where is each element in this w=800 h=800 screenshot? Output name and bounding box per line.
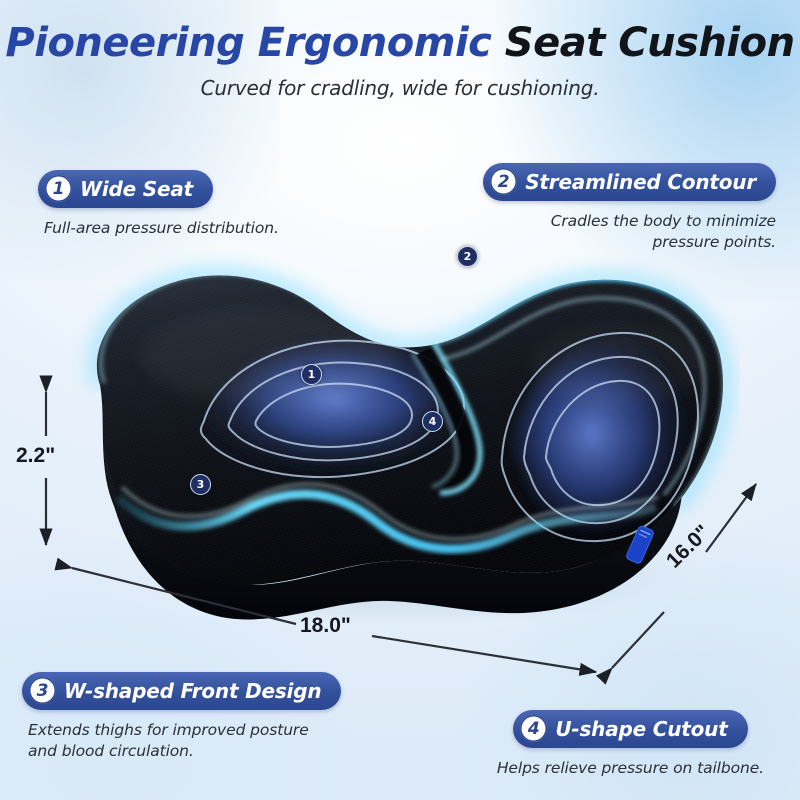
callout-w-shaped-front-design[interactable]: 3 W-shaped Front Design Extends thighs f… xyxy=(22,672,341,762)
product-marker-4: 4 xyxy=(422,411,443,432)
page-title: Pioneering Ergonomic Seat Cushion xyxy=(0,22,800,64)
header: Pioneering Ergonomic Seat Cushion Curved… xyxy=(0,22,800,100)
product-image-seat-cushion: 1 2 3 4 xyxy=(60,235,740,635)
dimension-height-label: 2.2" xyxy=(16,444,55,468)
callout-3-label: W-shaped Front Design xyxy=(64,679,321,703)
product-marker-3: 3 xyxy=(190,474,211,495)
callout-1-description: Full-area pressure distribution. xyxy=(44,218,279,239)
page-title-primary: Pioneering Ergonomic xyxy=(5,20,491,66)
callout-2-badge: 2 Streamlined Contour xyxy=(483,163,776,201)
page-title-secondary: Seat Cushion xyxy=(505,20,795,66)
product-marker-1: 1 xyxy=(301,364,322,385)
callout-3-description: Extends thighs for improved posture and … xyxy=(28,720,330,762)
callout-4-description: Helps relieve pressure on tailbone. xyxy=(497,758,764,779)
callout-4-badge: 4 U-shape Cutout xyxy=(513,710,747,748)
callout-4-label: U-shape Cutout xyxy=(555,717,727,741)
callout-2-number: 2 xyxy=(490,168,517,195)
callout-wide-seat[interactable]: 1 Wide Seat Full-area pressure distribut… xyxy=(38,170,279,239)
callout-2-description: Cradles the body to minimize pressure po… xyxy=(526,211,776,253)
infographic-canvas: Pioneering Ergonomic Seat Cushion Curved… xyxy=(0,0,800,800)
callout-3-badge: 3 W-shaped Front Design xyxy=(22,672,341,710)
callout-4-number: 4 xyxy=(520,715,547,742)
page-subtitle: Curved for cradling, wide for cushioning… xyxy=(0,76,800,100)
callout-u-shape-cutout[interactable]: 4 U-shape Cutout Helps relieve pressure … xyxy=(497,710,764,779)
callout-1-number: 1 xyxy=(45,175,72,202)
product-marker-2: 2 xyxy=(457,246,478,267)
callout-2-label: Streamlined Contour xyxy=(525,170,756,194)
callout-3-number: 3 xyxy=(29,677,56,704)
callout-1-badge: 1 Wide Seat xyxy=(38,170,213,208)
dimension-width-label: 18.0" xyxy=(300,614,351,638)
callout-1-label: Wide Seat xyxy=(80,177,193,201)
callout-streamlined-contour[interactable]: 2 Streamlined Contour Cradles the body t… xyxy=(483,163,776,253)
